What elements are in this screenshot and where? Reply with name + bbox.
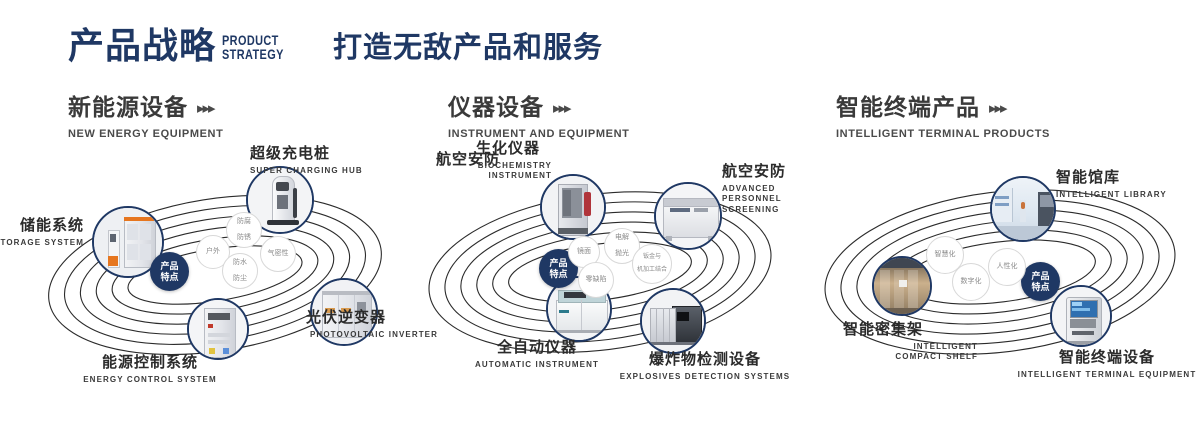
feature-bubble-waterproof[interactable]: 防水 防尘 [222, 253, 258, 289]
page-header: 产品战略 PRODUCT STRATEGY 打造无敌产品和服务 [0, 0, 1200, 92]
page-title: 产品战略 [68, 28, 216, 64]
node-advanced-personnel-screening[interactable] [654, 182, 722, 250]
page-title-en: PRODUCT STRATEGY [222, 33, 284, 61]
node-energy-control-system[interactable] [187, 298, 249, 360]
chevron-right-icon: ▸▸▸ [989, 99, 1006, 117]
label-biochemistry-instrument: 生化仪器 BIOCHEMISTRY INSTRUMENT [476, 141, 552, 182]
label-cn: 爆炸物检测设备 [590, 352, 820, 369]
feature-line1: 防腐 [237, 218, 251, 226]
label-en: ADVANCED PERSONNEL SCREENING [722, 184, 808, 216]
core-product-features[interactable]: 产品 特点 [150, 252, 189, 291]
detection-system-icon [642, 290, 704, 352]
feature-line2: 防锈 [237, 234, 251, 242]
feature-line1: 电解 [615, 234, 629, 242]
cluster-instrument: 航空安防 生化仪器 BIOCHEMISTRY INSTRUMENT 航空安防 A… [400, 150, 800, 395]
label-cn: 智能终端设备 [992, 350, 1200, 367]
control-cabinet-icon [189, 300, 247, 358]
label-cn: 航空安防 [722, 164, 808, 181]
label-explosives-detection-systems: 爆炸物检测设备 EXPLOSIVES DETECTION SYSTEMS [590, 352, 820, 382]
section-title-en: INSTRUMENT AND EQUIPMENT [448, 128, 629, 140]
feature-line1: 镜面 [577, 248, 591, 256]
label-intelligent-library: 智能馆库 INTELLIGENT LIBRARY [1056, 170, 1167, 200]
page-slogan: 打造无敌产品和服务 [333, 34, 603, 63]
label-cn: 储能系统 [0, 218, 84, 235]
biochemistry-analyzer-icon [542, 176, 604, 238]
label-en: EXPLOSIVES DETECTION SYSTEMS [590, 372, 820, 383]
feature-bubble-airtightness[interactable]: 气密性 [260, 236, 296, 272]
node-intelligent-library[interactable] [990, 176, 1056, 242]
core-line1: 产品 [1031, 271, 1049, 281]
label-cn: 能源控制系统 [40, 355, 260, 372]
screening-machine-icon [656, 184, 720, 248]
feature-line2: 抛光 [615, 250, 629, 258]
feature-line1: 人性化 [997, 263, 1018, 271]
core-line2: 特点 [160, 272, 178, 282]
feature-line1: 钣金与 [637, 254, 667, 261]
feature-bubble-zero-defect[interactable]: 零缺陷 [578, 262, 614, 298]
label-en: INTELLIGENT TERMINAL EQUIPMENT [992, 370, 1200, 381]
core-line1: 产品 [549, 258, 567, 268]
label-cn: 智能密集架 [788, 322, 978, 339]
feature-bubble-humanized[interactable]: 人性化 [988, 248, 1026, 286]
cluster-new-energy: 储能系统 ENERGY STORAGE SYSTEM 超级充电桩 SUPER C… [10, 150, 410, 395]
feature-line1: 防水 [233, 259, 247, 267]
self-service-kiosk-icon [1052, 287, 1110, 345]
feature-line2: 机加工结合 [637, 267, 667, 274]
label-cn: 超级充电桩 [250, 146, 363, 163]
label-intelligent-terminal-equipment: 智能终端设备 INTELLIGENT TERMINAL EQUIPMENT [992, 350, 1200, 380]
section-title-en: INTELLIGENT TERMINAL PRODUCTS [836, 128, 1050, 140]
label-intelligent-compact-shelf: 智能密集架 INTELLIGENT COMPACT SHELF [788, 322, 978, 363]
section-heading-instrument: 仪器设备▸▸▸ INSTRUMENT AND EQUIPMENT [448, 96, 629, 140]
chevron-right-icon: ▸▸▸ [553, 99, 570, 117]
label-energy-storage-system: 储能系统 ENERGY STORAGE SYSTEM [0, 218, 84, 248]
label-en: INTELLIGENT COMPACT SHELF [872, 342, 978, 364]
node-intelligent-terminal-equipment[interactable] [1050, 285, 1112, 347]
core-line2: 特点 [1031, 282, 1049, 292]
node-intelligent-compact-shelf[interactable] [872, 256, 932, 316]
label-en: ENERGY CONTROL SYSTEM [40, 375, 260, 386]
label-en: ENERGY STORAGE SYSTEM [0, 238, 84, 249]
feature-line1: 智慧化 [935, 251, 956, 259]
chevron-right-icon: ▸▸▸ [197, 99, 214, 117]
label-cn: 智能馆库 [1056, 170, 1167, 187]
compact-shelving-icon [874, 258, 930, 314]
label-en: BIOCHEMISTRY INSTRUMENT [470, 161, 552, 183]
label-cn: 生化仪器 [476, 141, 552, 158]
feature-line1: 户外 [206, 248, 220, 256]
feature-line1: 气密性 [268, 250, 289, 258]
section-title-cn: 新能源设备 [68, 96, 188, 119]
section-title-en: NEW ENERGY EQUIPMENT [68, 128, 223, 140]
label-super-charging-hub: 超级充电桩 SUPER CHARGING HUB [250, 146, 363, 176]
core-line1: 产品 [160, 261, 178, 271]
core-product-features[interactable]: 产品 特点 [1021, 262, 1060, 301]
label-en: SUPER CHARGING HUB [250, 166, 363, 177]
section-title-cn: 智能终端产品 [836, 96, 980, 119]
section-title-cn: 仪器设备 [448, 96, 544, 119]
library-room-icon [992, 178, 1054, 240]
cluster-intelligent-terminal: 智能馆库 INTELLIGENT LIBRARY 智能密集架 INTELLIGE… [800, 150, 1200, 395]
feature-line2: 防尘 [233, 275, 247, 283]
feature-line1: 数字化 [961, 278, 982, 286]
feature-bubble-digital[interactable]: 数字化 [952, 263, 990, 301]
page-title-en-line2: STRATEGY [222, 47, 284, 61]
feature-bubble-sheetmetal-machining[interactable]: 钣金与 机加工结合 [632, 244, 672, 284]
label-en: INTELLIGENT LIBRARY [1056, 190, 1167, 201]
node-explosives-detection-systems[interactable] [640, 288, 706, 354]
label-advanced-personnel-screening: 航空安防 ADVANCED PERSONNEL SCREENING [722, 164, 808, 216]
label-energy-control-system: 能源控制系统 ENERGY CONTROL SYSTEM [40, 355, 260, 385]
section-heading-intelligent-terminal: 智能终端产品▸▸▸ INTELLIGENT TERMINAL PRODUCTS [836, 96, 1050, 140]
core-line2: 特点 [549, 269, 567, 279]
feature-bubble-anticorrosion[interactable]: 防腐 防锈 [226, 212, 262, 248]
section-heading-new-energy: 新能源设备▸▸▸ NEW ENERGY EQUIPMENT [68, 96, 223, 140]
page-title-en-line1: PRODUCT [222, 33, 284, 47]
feature-line1: 零缺陷 [586, 276, 607, 284]
node-biochemistry-instrument[interactable] [540, 174, 606, 240]
